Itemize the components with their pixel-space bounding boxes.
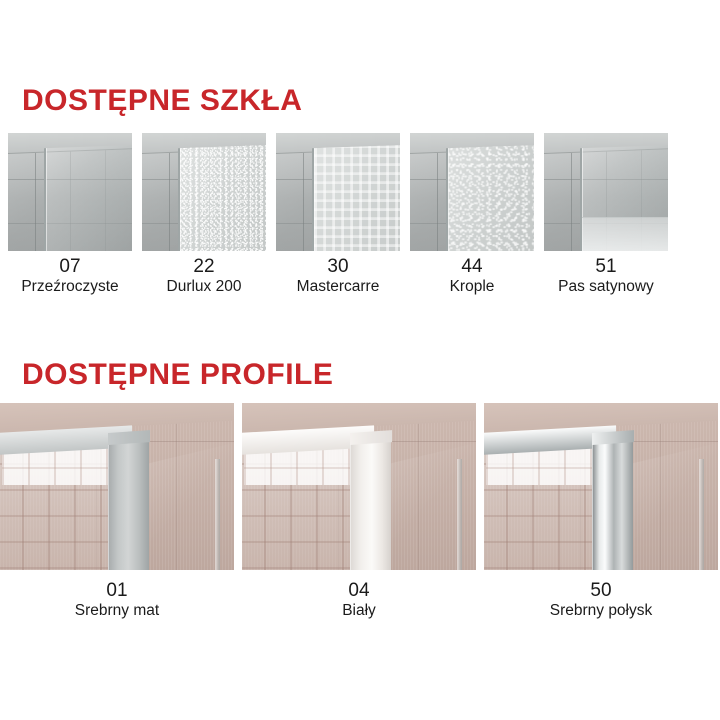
profile-sample-row	[0, 403, 720, 570]
glass-caption-22: 22 Durlux 200	[142, 256, 266, 297]
glass-name: Krople	[410, 278, 534, 297]
profile-post-white	[350, 433, 391, 570]
profile-code: 04	[242, 580, 476, 602]
glass-pane-frosted	[178, 145, 266, 251]
glass-sample-row	[8, 133, 712, 251]
glass-side-edge	[457, 459, 462, 570]
product-options-sheet: DOSTĘPNE SZKŁA	[0, 0, 720, 720]
shower-glass-panel	[242, 437, 366, 570]
glass-pane-clear	[44, 145, 132, 251]
post-top-cap	[350, 430, 392, 445]
satin-stripe	[582, 217, 668, 251]
shower-glass-panel	[484, 437, 608, 570]
glass-caption-07: 07 Przeźroczyste	[8, 256, 132, 297]
glass-code: 07	[8, 256, 132, 278]
profile-name: Biały	[242, 602, 476, 621]
glass-side-edge	[699, 459, 704, 570]
glass-sample-30[interactable]	[276, 133, 400, 251]
glass-caption-30: 30 Mastercarre	[276, 256, 400, 297]
profile-caption-01: 01 Srebrny mat	[0, 580, 234, 621]
profile-name: Srebrny połysk	[484, 602, 718, 621]
glass-pane-satin-stripe	[580, 145, 668, 251]
glass-name: Pas satynowy	[544, 278, 668, 297]
glass-sample-22[interactable]	[142, 133, 266, 251]
glass-code: 51	[544, 256, 668, 278]
profile-caption-row: 01 Srebrny mat 04 Biały 50 Srebrny połys…	[0, 580, 720, 621]
post-top-cap	[108, 430, 150, 445]
profile-code: 50	[484, 580, 718, 602]
glass-name: Mastercarre	[276, 278, 400, 297]
section-heading-profile: DOSTĘPNE PROFILE	[22, 358, 333, 392]
glass-side-edge	[215, 459, 220, 570]
glass-pane-mastercarre	[312, 145, 400, 251]
glass-name: Durlux 200	[142, 278, 266, 297]
post-top-cap	[592, 430, 634, 445]
glass-sample-51[interactable]	[544, 133, 668, 251]
profile-post-silver-matt	[108, 433, 149, 570]
glass-code: 22	[142, 256, 266, 278]
profile-name: Srebrny mat	[0, 602, 234, 621]
profile-sample-50[interactable]	[484, 403, 718, 570]
glass-code: 30	[276, 256, 400, 278]
glass-caption-row: 07 Przeźroczyste 22 Durlux 200 30 Master…	[8, 256, 712, 297]
glass-code: 44	[410, 256, 534, 278]
glass-name: Przeźroczyste	[8, 278, 132, 297]
glass-pane-droplets	[446, 145, 534, 251]
glass-caption-51: 51 Pas satynowy	[544, 256, 668, 297]
section-heading-glass: DOSTĘPNE SZKŁA	[22, 84, 302, 118]
profile-sample-01[interactable]	[0, 403, 234, 570]
shower-glass-panel	[0, 437, 124, 570]
profile-post-silver-gloss	[592, 433, 633, 570]
profile-sample-04[interactable]	[242, 403, 476, 570]
profile-caption-04: 04 Biały	[242, 580, 476, 621]
glass-sample-44[interactable]	[410, 133, 534, 251]
profile-caption-50: 50 Srebrny połysk	[484, 580, 718, 621]
glass-sample-07[interactable]	[8, 133, 132, 251]
glass-caption-44: 44 Krople	[410, 256, 534, 297]
profile-code: 01	[0, 580, 234, 602]
